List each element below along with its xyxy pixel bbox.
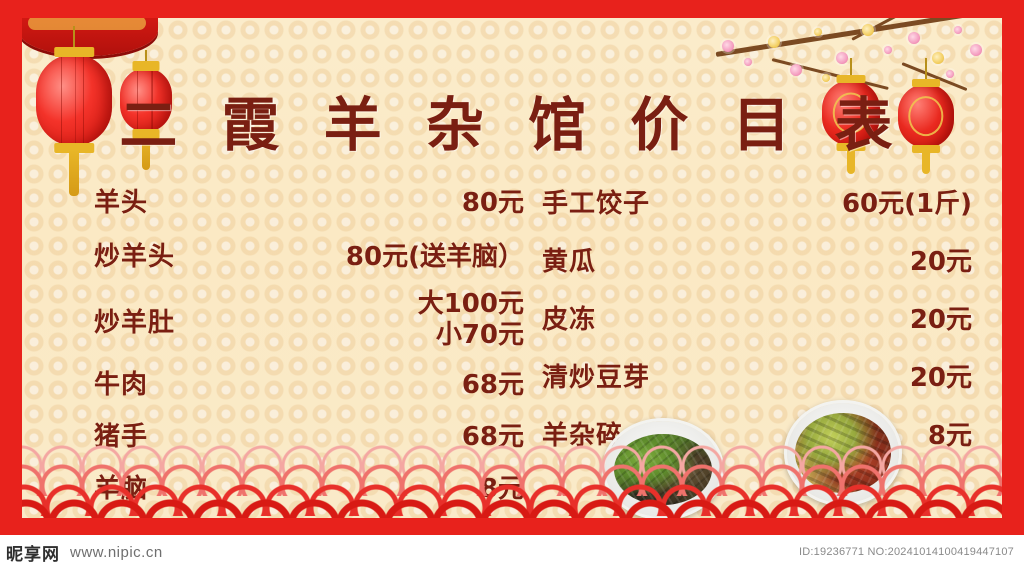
plum-blossom-branch-icon (716, 18, 983, 57)
menu-item-price: 大100元 小70元 (418, 289, 524, 350)
image-id-text: ID:19236771 NO:20241014100419447107 (799, 546, 1014, 558)
screenshot-root: 二 霞 羊 杂 馆 价 目 表 羊头 80元 炒羊头 80元(送羊脑） 炒羊肚 (0, 0, 1024, 569)
page-title: 二 霞 羊 杂 馆 价 目 表 (22, 78, 1002, 162)
menu-item-name: 皮冻 (542, 299, 596, 336)
menu-item-price: 20元 (910, 241, 972, 278)
blossom-icon (884, 46, 892, 54)
menu-item: 炒羊头 80元(送羊脑） (94, 228, 524, 280)
menu-item-price-sub: 小70元 (436, 320, 524, 351)
menu-item-price: 68元 (462, 364, 524, 401)
site-logo-text: 昵享网 (6, 540, 60, 565)
blossom-icon (970, 44, 982, 56)
blossom-icon (862, 24, 874, 36)
menu-item-name: 清炒豆芽 (542, 357, 650, 394)
menu-item-name: 黄瓜 (542, 241, 596, 278)
blossom-icon (932, 52, 944, 64)
lantern-cap-top (132, 61, 159, 71)
blossom-icon (768, 36, 780, 48)
menu-item: 羊头 80元 (94, 174, 524, 226)
menu-item-name: 炒羊肚 (94, 302, 175, 339)
menu-item: 黄瓜 20元 (542, 230, 972, 288)
menu-item-price: 60元(1斤) (842, 183, 972, 220)
menu-item: 炒羊肚 大100元 小70元 (94, 286, 524, 354)
wave-pattern-icon (22, 432, 1002, 518)
poster-red-frame: 二 霞 羊 杂 馆 价 目 表 羊头 80元 炒羊头 80元(送羊脑） 炒羊肚 (0, 0, 1024, 535)
blossom-icon (946, 70, 954, 78)
menu-item-name: 手工饺子 (542, 183, 650, 220)
menu-item: 皮冻 20元 (542, 288, 972, 346)
menu-item-name: 羊头 (94, 182, 148, 219)
menu-item-price-main: 大100元 (418, 289, 524, 320)
site-url[interactable]: www.nipic.cn (70, 544, 163, 561)
blossom-icon (722, 40, 734, 52)
site-logo[interactable]: 昵享网 www.nipic.cn (6, 540, 163, 565)
menu-item-name: 牛肉 (94, 364, 148, 401)
blossom-icon (954, 26, 962, 34)
blossom-icon (908, 32, 920, 44)
menu-item: 手工饺子 60元(1斤) (542, 172, 972, 230)
menu-item-price: 80元 (462, 182, 524, 219)
menu-column-right: 手工饺子 60元(1斤) 黄瓜 20元 皮冻 20元 清炒豆芽 20元 (542, 168, 972, 462)
menu-item-price: 80元(送羊脑） (346, 236, 524, 273)
blossom-icon (744, 58, 752, 66)
footer-bar: 昵享网 www.nipic.cn ID:19236771 NO:20241014… (0, 535, 1024, 569)
menu-item-name: 炒羊头 (94, 236, 175, 273)
blossom-icon (814, 28, 822, 36)
blossom-icon (836, 52, 848, 64)
menu-item: 清炒豆芽 20元 (542, 346, 972, 404)
lantern-cap-top (54, 47, 94, 57)
blossom-icon (790, 64, 802, 76)
wave-row (22, 492, 1002, 518)
menu-item-price: 20元 (910, 299, 972, 336)
menu-item: 牛肉 68元 (94, 356, 524, 408)
menu-item-price: 20元 (910, 357, 972, 394)
menu-panel: 二 霞 羊 杂 馆 价 目 表 羊头 80元 炒羊头 80元(送羊脑） 炒羊肚 (22, 18, 1002, 518)
